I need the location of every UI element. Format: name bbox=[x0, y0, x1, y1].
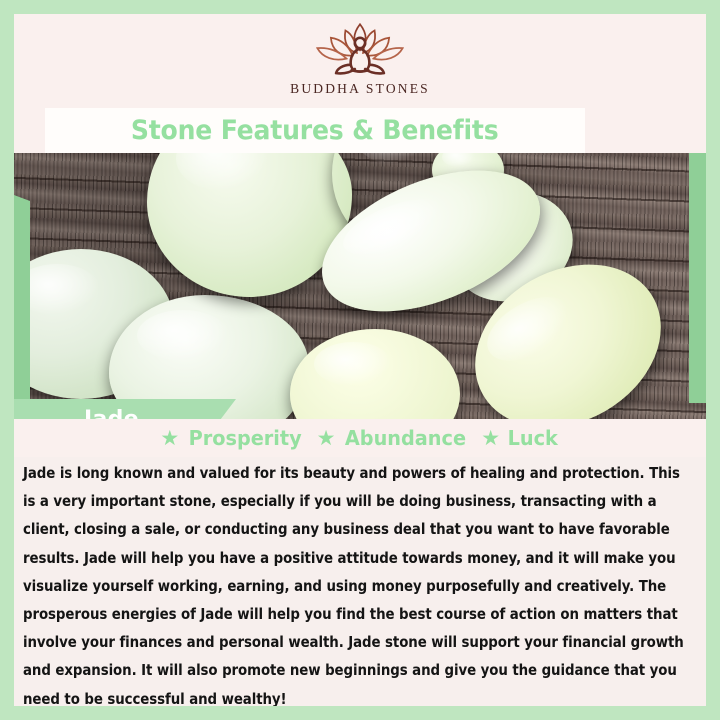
description-section: Jade is long known and valued for its be… bbox=[14, 457, 706, 706]
benefit-item-prosperity: ★ Prosperity bbox=[160, 426, 305, 450]
description-text: Jade is long known and valued for its be… bbox=[23, 459, 696, 706]
star-icon: ★ bbox=[317, 428, 336, 449]
brand-name: BUDDHA STONES bbox=[290, 81, 430, 97]
lotus-meditation-icon bbox=[308, 20, 412, 80]
benefit-item-luck: ★ Luck bbox=[481, 426, 559, 450]
star-icon: ★ bbox=[481, 428, 500, 449]
benefit-label: Prosperity bbox=[189, 426, 302, 450]
stone-name-banner: Jade bbox=[14, 399, 236, 419]
benefit-label: Luck bbox=[508, 426, 558, 450]
page-title: Stone Features & Benefits bbox=[131, 115, 499, 146]
star-icon: ★ bbox=[160, 428, 179, 449]
title-banner: Stone Features & Benefits bbox=[45, 108, 585, 153]
infographic-page: BUDDHA STONES Stone Features & Benefits bbox=[0, 0, 720, 720]
photo-image bbox=[14, 153, 706, 419]
stone-name-label: Jade bbox=[84, 407, 139, 419]
benefit-label: Abundance bbox=[345, 426, 466, 450]
benefits-row: ★ Prosperity ★ Abundance ★ Luck bbox=[14, 419, 706, 457]
brand-header: BUDDHA STONES bbox=[14, 14, 706, 108]
benefit-item-abundance: ★ Abundance bbox=[317, 426, 471, 450]
stone-photo: Jade bbox=[14, 153, 706, 419]
left-accent-bar bbox=[14, 195, 30, 400]
content-card: BUDDHA STONES Stone Features & Benefits bbox=[14, 14, 706, 706]
right-accent-bar bbox=[689, 153, 706, 403]
